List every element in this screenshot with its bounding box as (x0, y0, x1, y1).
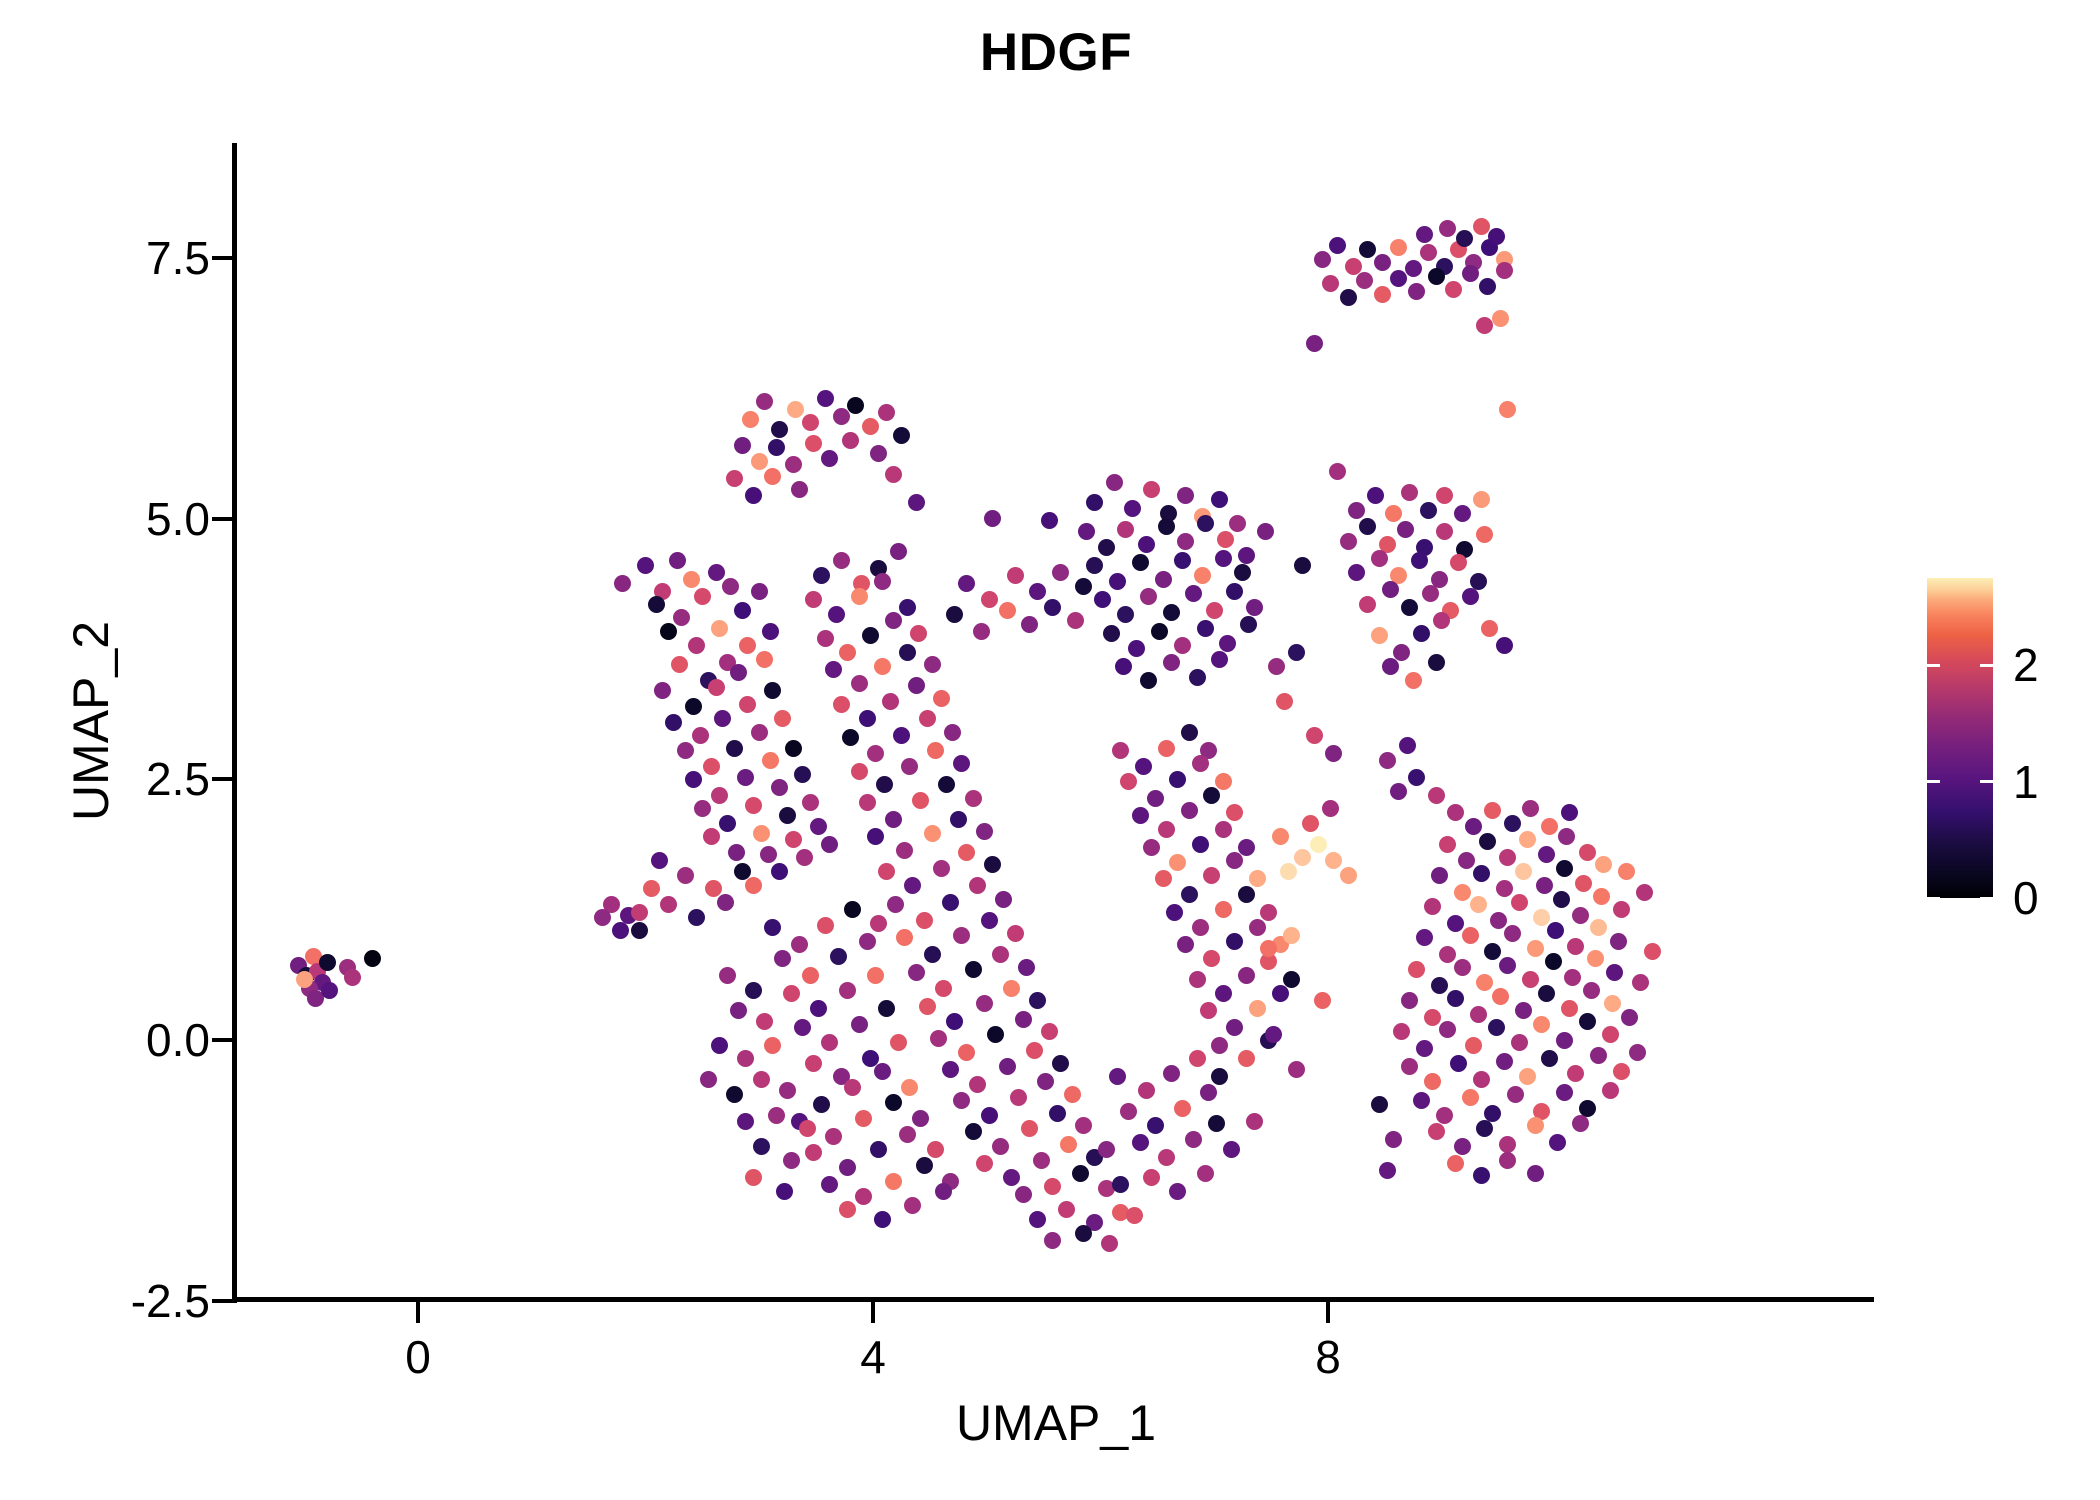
scatter-point (844, 1079, 861, 1096)
scatter-point (859, 794, 876, 811)
scatter-point (1151, 623, 1168, 640)
scatter-point (321, 982, 338, 999)
scatter-point (1112, 742, 1129, 759)
scatter-point (1511, 894, 1528, 911)
scatter-point (1348, 564, 1365, 581)
scatter-point (779, 807, 796, 824)
scatter-point (995, 891, 1012, 908)
scatter-point (745, 487, 762, 504)
scatter-point (810, 818, 827, 835)
scatter-point (1294, 557, 1311, 574)
scatter-point (688, 637, 705, 654)
scatter-point (924, 825, 941, 842)
scatter-point (950, 811, 967, 828)
scatter-point (1010, 1089, 1027, 1106)
scatter-point (1481, 620, 1498, 637)
scatter-point (1527, 1165, 1544, 1182)
scatter-point (901, 1079, 918, 1096)
scatter-point (1595, 856, 1612, 873)
scatter-point (935, 980, 952, 997)
x-axis-tick-label: 8 (1248, 1332, 1408, 1382)
colorbar-tick (1927, 897, 1940, 900)
scatter-point (760, 846, 777, 863)
scatter-point (799, 1120, 816, 1137)
scatter-point (1078, 523, 1095, 540)
scatter-point (933, 860, 950, 877)
scatter-point (1174, 637, 1191, 654)
scatter-point (711, 1037, 728, 1054)
scatter-point (1436, 1107, 1453, 1124)
scatter-point (1439, 220, 1456, 237)
scatter-point (946, 1013, 963, 1030)
scatter-point (1003, 980, 1020, 997)
scatter-point (1465, 1037, 1482, 1054)
scatter-point (1075, 1225, 1092, 1242)
scatter-point (1367, 487, 1384, 504)
scatter-point (677, 742, 694, 759)
scatter-point (1484, 1105, 1501, 1122)
scatter-point (930, 1030, 947, 1047)
scatter-point (1238, 967, 1255, 984)
scatter-point (694, 800, 711, 817)
scatter-point (1052, 564, 1069, 581)
scatter-point (779, 1082, 796, 1099)
scatter-point (1189, 669, 1206, 686)
x-axis-label: UMAP_1 (236, 1394, 1876, 1452)
scatter-point (1163, 1065, 1180, 1082)
scatter-point (1382, 658, 1399, 675)
scatter-point (730, 664, 747, 681)
scatter-point (1439, 946, 1456, 963)
scatter-point (1590, 1047, 1607, 1064)
scatter-point (1211, 651, 1228, 668)
scatter-point (1058, 1201, 1075, 1218)
scatter-point (1416, 1040, 1433, 1057)
scatter-point (1579, 1013, 1596, 1030)
scatter-point (1211, 1037, 1228, 1054)
scatter-point (1556, 860, 1573, 877)
scatter-point (776, 1183, 793, 1200)
y-axis-line (232, 143, 237, 1303)
scatter-point (1356, 272, 1373, 289)
scatter-point (1306, 335, 1323, 352)
scatter-point (821, 450, 838, 467)
scatter-point (1538, 985, 1555, 1002)
colorbar-gradient (1927, 578, 1993, 898)
scatter-point (1390, 239, 1407, 256)
scatter-point (1215, 773, 1232, 790)
scatter-point (1424, 898, 1441, 915)
scatter-point (1226, 1019, 1243, 1036)
scatter-point (1126, 1207, 1143, 1224)
scatter-point (1479, 833, 1496, 850)
scatter-point (908, 964, 925, 981)
scatter-point (1109, 1068, 1126, 1085)
scatter-point (1166, 904, 1183, 921)
scatter-point (839, 1159, 856, 1176)
scatter-point (1447, 1155, 1464, 1172)
scatter-point (912, 792, 929, 809)
scatter-point (1029, 583, 1046, 600)
scatter-point (1234, 564, 1251, 581)
scatter-plot-panel[interactable] (236, 143, 1874, 1301)
scatter-point (1575, 875, 1592, 892)
scatter-point (1488, 1019, 1505, 1036)
scatter-point (984, 856, 1001, 873)
scatter-point (938, 776, 955, 793)
scatter-point (1143, 481, 1160, 498)
scatter-point (817, 390, 834, 407)
scatter-point (745, 1169, 762, 1186)
scatter-point (1492, 310, 1509, 327)
scatter-point (1470, 896, 1487, 913)
scatter-point (805, 1144, 822, 1161)
scatter-point (1385, 1131, 1402, 1148)
x-axis-tick (871, 1302, 875, 1323)
scatter-point (847, 397, 864, 414)
scatter-point (899, 644, 916, 661)
scatter-point (785, 456, 802, 473)
scatter-point (1519, 831, 1536, 848)
scatter-point (828, 606, 845, 623)
scatter-point (1420, 244, 1437, 261)
scatter-point (1541, 1050, 1558, 1067)
scatter-point (1496, 880, 1513, 897)
scatter-point (908, 677, 925, 694)
scatter-point (859, 710, 876, 727)
scatter-point (1579, 844, 1596, 861)
scatter-point (1636, 884, 1653, 901)
y-axis-tick (212, 256, 233, 260)
scatter-point (1215, 821, 1232, 838)
colorbar-legend[interactable] (1927, 578, 1993, 898)
scatter-point (976, 1155, 993, 1172)
scatter-point (1075, 1117, 1092, 1134)
scatter-point (1181, 886, 1198, 903)
scatter-point (762, 752, 779, 769)
scatter-point (1101, 1235, 1118, 1252)
feature-plot-figure: HDGF -2.50.02.55.07.5 048 UMAP_2 UMAP_1 … (0, 0, 2100, 1500)
scatter-point (1511, 1034, 1528, 1051)
scatter-point (762, 623, 779, 640)
scatter-point (771, 863, 788, 880)
scatter-point (1075, 578, 1092, 595)
scatter-point (1340, 867, 1357, 884)
scatter-point (1473, 1167, 1490, 1184)
scatter-point (737, 1050, 754, 1067)
scatter-point (1238, 886, 1255, 903)
scatter-point (1124, 500, 1141, 517)
scatter-point (737, 769, 754, 786)
scatter-point (768, 439, 785, 456)
scatter-point (802, 967, 819, 984)
scatter-point (1499, 1152, 1516, 1169)
scatter-point (1572, 1115, 1589, 1132)
scatter-point (1128, 640, 1145, 657)
scatter-point (976, 995, 993, 1012)
scatter-point (1086, 494, 1103, 511)
y-axis-tick (212, 777, 233, 781)
scatter-point (1359, 241, 1376, 258)
scatter-point (1374, 286, 1391, 303)
scatter-point (855, 1110, 872, 1127)
scatter-point (1226, 852, 1243, 869)
scatter-point (899, 599, 916, 616)
scatter-point (612, 922, 629, 939)
scatter-point (1185, 585, 1202, 602)
scatter-point (1558, 828, 1575, 845)
scatter-point (1322, 275, 1339, 292)
scatter-point (1260, 940, 1277, 957)
scatter-point (787, 401, 804, 418)
scatter-point (1445, 281, 1462, 298)
scatter-point (651, 852, 668, 869)
scatter-point (1397, 521, 1414, 538)
scatter-point (1098, 539, 1115, 556)
scatter-point (1314, 251, 1331, 268)
scatter-point (1536, 877, 1553, 894)
scatter-point (851, 763, 868, 780)
scatter-point (745, 797, 762, 814)
scatter-point (1147, 1117, 1164, 1134)
x-axis-line (232, 1297, 1874, 1302)
scatter-point (874, 658, 891, 675)
scatter-point (794, 766, 811, 783)
scatter-point (1203, 787, 1220, 804)
scatter-point (893, 427, 910, 444)
scatter-point (981, 591, 998, 608)
scatter-point (1621, 1009, 1638, 1026)
scatter-point (870, 915, 887, 932)
scatter-point (1049, 1105, 1066, 1122)
scatter-point (817, 917, 834, 934)
scatter-point (714, 710, 731, 727)
scatter-point (1044, 599, 1061, 616)
scatter-point (1450, 1055, 1467, 1072)
scatter-point (1192, 919, 1209, 936)
scatter-point (1007, 925, 1024, 942)
scatter-point (1390, 270, 1407, 287)
scatter-point (1280, 863, 1297, 880)
scatter-point (1203, 950, 1220, 967)
scatter-point (665, 714, 682, 731)
scatter-point (1522, 800, 1539, 817)
scatter-point (817, 630, 834, 647)
scatter-point (708, 679, 725, 696)
scatter-point (669, 552, 686, 569)
scatter-point (1533, 1016, 1550, 1033)
colorbar-tick (1980, 780, 1993, 783)
scatter-point (1507, 1086, 1524, 1103)
scatter-point (1240, 616, 1257, 633)
scatter-point (1117, 606, 1134, 623)
scatter-point (692, 727, 709, 744)
scatter-point (1215, 901, 1232, 918)
scatter-point (870, 445, 887, 462)
scatter-point (862, 627, 879, 644)
scatter-point (944, 724, 961, 741)
scatter-point (1041, 1023, 1058, 1040)
scatter-point (867, 967, 884, 984)
scatter-point (1428, 1123, 1445, 1140)
scatter-point (673, 609, 690, 626)
scatter-point (859, 933, 876, 950)
scatter-point (1018, 959, 1035, 976)
scatter-point (1447, 804, 1464, 821)
scatter-point (717, 894, 734, 911)
scatter-point (737, 1113, 754, 1130)
scatter-point (1177, 533, 1194, 550)
scatter-point (1072, 1165, 1089, 1182)
scatter-point (771, 421, 788, 438)
scatter-point (1044, 1232, 1061, 1249)
scatter-point (364, 950, 381, 967)
scatter-point (1567, 938, 1584, 955)
scatter-point (1314, 992, 1331, 1009)
scatter-point (1329, 463, 1346, 480)
scatter-point (1522, 971, 1539, 988)
scatter-point (1553, 891, 1570, 908)
scatter-point (1033, 1152, 1050, 1169)
scatter-point (1454, 1138, 1471, 1155)
scatter-point (1249, 919, 1266, 936)
scatter-point (745, 877, 762, 894)
scatter-point (1158, 1149, 1175, 1166)
scatter-point (1371, 550, 1388, 567)
scatter-point (1294, 849, 1311, 866)
scatter-point (890, 1034, 907, 1051)
scatter-point (1499, 401, 1516, 418)
colorbar-tick (1927, 664, 1940, 667)
scatter-point (1086, 557, 1103, 574)
scatter-point (1200, 1002, 1217, 1019)
scatter-point (1348, 502, 1365, 519)
scatter-point (1103, 625, 1120, 642)
scatter-point (1143, 1169, 1160, 1186)
scatter-point (753, 825, 770, 842)
scatter-point (1257, 523, 1274, 540)
scatter-point (1310, 836, 1327, 853)
scatter-point (1476, 317, 1493, 334)
scatter-point (1428, 654, 1445, 671)
scatter-point (1238, 547, 1255, 564)
colorbar-tick-label: 0 (2013, 875, 2100, 921)
scatter-point (1147, 790, 1164, 807)
scatter-point (742, 411, 759, 428)
scatter-point (734, 602, 751, 619)
scatter-point (919, 998, 936, 1015)
scatter-point (821, 1034, 838, 1051)
scatter-point (1379, 1162, 1396, 1179)
scatter-point (764, 1037, 781, 1054)
scatter-point (726, 1086, 743, 1103)
scatter-point (874, 1211, 891, 1228)
scatter-point (1132, 807, 1149, 824)
scatter-point (719, 815, 736, 832)
scatter-point (654, 682, 671, 699)
x-axis-tick-label: 0 (338, 1332, 498, 1382)
scatter-point (1590, 919, 1607, 936)
scatter-point (1132, 1134, 1149, 1151)
scatter-point (719, 967, 736, 984)
y-axis-tick (212, 517, 233, 521)
scatter-point (878, 863, 895, 880)
scatter-point (1302, 815, 1319, 832)
scatter-point (1492, 988, 1509, 1005)
scatter-point (1476, 1120, 1493, 1137)
scatter-point (1473, 491, 1490, 508)
scatter-point (1037, 1073, 1054, 1090)
scatter-point (703, 828, 720, 845)
scatter-point (1567, 1065, 1584, 1082)
scatter-point (1021, 616, 1038, 633)
scatter-point (1177, 487, 1194, 504)
scatter-point (904, 1197, 921, 1214)
scatter-point (953, 1092, 970, 1109)
scatter-point (878, 404, 895, 421)
scatter-point (1401, 992, 1418, 1009)
scatter-point (694, 588, 711, 605)
scatter-point (1424, 1073, 1441, 1090)
scatter-point (1527, 1117, 1544, 1134)
scatter-point (1515, 1002, 1532, 1019)
scatter-point (1393, 1023, 1410, 1040)
scatter-point (708, 564, 725, 581)
scatter-point (1499, 957, 1516, 974)
scatter-point (813, 567, 830, 584)
scatter-point (791, 481, 808, 498)
scatter-point (1454, 884, 1471, 901)
scatter-point (1473, 218, 1490, 235)
scatter-point (768, 1107, 785, 1124)
scatter-point (1246, 599, 1263, 616)
scatter-point (1219, 635, 1236, 652)
scatter-point (751, 724, 768, 741)
scatter-point (810, 1000, 827, 1017)
y-axis-label: UMAP_2 (56, 141, 126, 1301)
scatter-point (1143, 839, 1160, 856)
scatter-point (1345, 258, 1362, 275)
scatter-point (1470, 1006, 1487, 1023)
scatter-point (1197, 515, 1214, 532)
scatter-point (992, 946, 1009, 963)
scatter-point (1499, 849, 1516, 866)
scatter-point (1007, 567, 1024, 584)
scatter-point (774, 950, 791, 967)
scatter-point (896, 842, 913, 859)
scatter-point (1416, 226, 1433, 243)
scatter-point (1602, 1082, 1619, 1099)
scatter-point (1401, 484, 1418, 501)
scatter-point (1473, 865, 1490, 882)
scatter-point (805, 1055, 822, 1072)
scatter-point (867, 828, 884, 845)
scatter-point (660, 896, 677, 913)
scatter-point (1454, 505, 1471, 522)
scatter-point (685, 698, 702, 715)
scatter-point (1120, 773, 1137, 790)
scatter-point (1499, 1136, 1516, 1153)
scatter-point (1447, 990, 1464, 1007)
scatter-point (1283, 971, 1300, 988)
scatter-point (643, 880, 660, 897)
scatter-point (1593, 888, 1610, 905)
scatter-point (842, 432, 859, 449)
scatter-point (1181, 724, 1198, 741)
scatter-point (614, 575, 631, 592)
scatter-point (953, 927, 970, 944)
scatter-point (821, 1176, 838, 1193)
